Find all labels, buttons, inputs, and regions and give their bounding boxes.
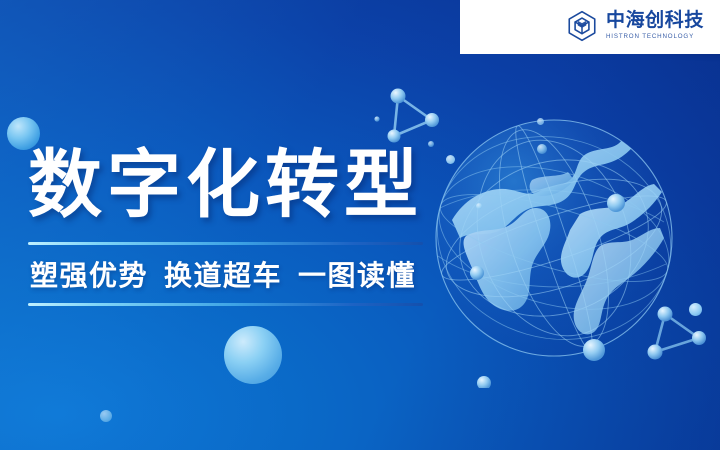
decorative-sphere-bottom-center [224, 326, 282, 384]
hero-subtitle-part-2: 换道超车 [164, 259, 282, 292]
decorative-sphere-small-bottom [100, 410, 112, 422]
hero-subtitle-part-3: 一图读懂 [298, 259, 416, 292]
digital-transformation-banner: 数字化转型 塑强优势换道超车一图读懂 中海创科技 HISTRON TECHNOL… [0, 0, 720, 450]
divider-line-bottom [28, 303, 423, 306]
logo-company-name-en: HISTRON TECHNOLOGY [606, 33, 704, 40]
decorative-sphere-globe-left-small [476, 203, 482, 209]
logo-text-block: 中海创科技 HISTRON TECHNOLOGY [606, 11, 704, 40]
page-title: 数字化转型 [28, 148, 448, 222]
hero-subtitle: 塑强优势换道超车一图读懂 [28, 245, 448, 303]
hero-subtitle-part-1: 塑强优势 [30, 259, 148, 292]
decorative-sphere-globe-top [537, 118, 544, 125]
hero-text-block: 数字化转型 塑强优势换道超车一图读懂 [28, 148, 448, 306]
network-node-triangle-bottom-right [643, 298, 720, 368]
logo-company-name-cn: 中海创科技 [606, 11, 704, 31]
company-logo[interactable]: 中海创科技 HISTRON TECHNOLOGY [565, 9, 704, 43]
histron-cube-logo-icon [565, 9, 599, 43]
